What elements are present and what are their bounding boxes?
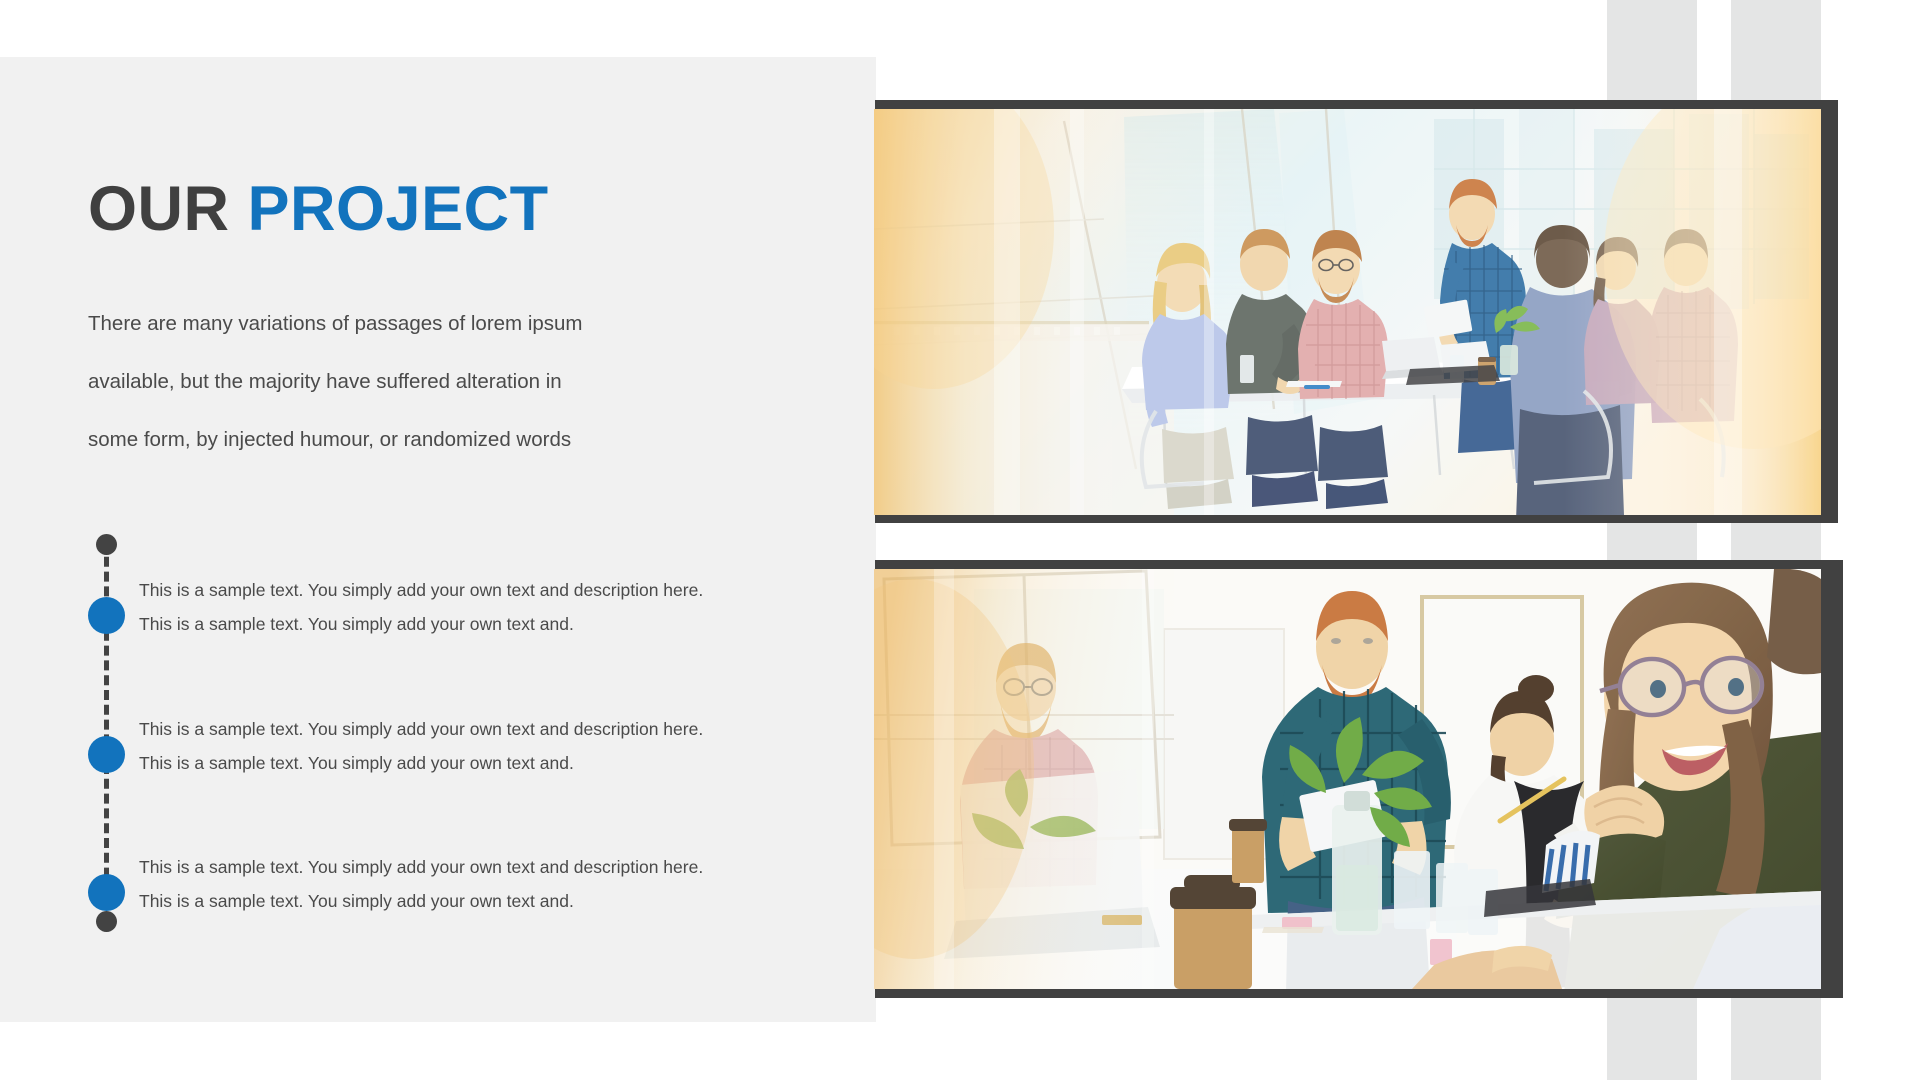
photo-frame-bottom	[875, 560, 1843, 998]
photo-meeting-closeup	[874, 569, 1821, 989]
slide-canvas: OUR PROJECT There are many variations of…	[0, 0, 1920, 1080]
photo-frame-top	[875, 100, 1838, 523]
intro-paragraph: There are many variations of passages of…	[88, 295, 710, 469]
timeline-bullet-icon	[88, 597, 125, 634]
title-word-accent: PROJECT	[248, 174, 549, 244]
timeline-list: This is a sample text. You simply add yo…	[88, 528, 728, 930]
timeline-cap-dot-bottom	[96, 911, 117, 932]
timeline-bullet-icon	[88, 736, 125, 773]
title-word-dark: OUR	[88, 174, 230, 244]
intro-line-2: available, but the majority have suffere…	[88, 353, 710, 411]
intro-line-3: some form, by injected humour, or random…	[88, 411, 710, 469]
intro-line-1: There are many variations of passages of…	[88, 295, 710, 353]
page-title: OUR PROJECT	[88, 178, 549, 241]
list-item-text: This is a sample text. You simply add yo…	[139, 573, 727, 641]
photo-team-meeting-wide-graphic	[874, 109, 1821, 515]
list-item-text: This is a sample text. You simply add yo…	[139, 850, 727, 918]
photo-meeting-closeup-graphic	[874, 569, 1821, 989]
list-item-text: This is a sample text. You simply add yo…	[139, 712, 727, 780]
timeline-cap-dot-top	[96, 534, 117, 555]
photo-team-meeting-wide	[874, 109, 1821, 515]
timeline-bullet-icon	[88, 874, 125, 911]
